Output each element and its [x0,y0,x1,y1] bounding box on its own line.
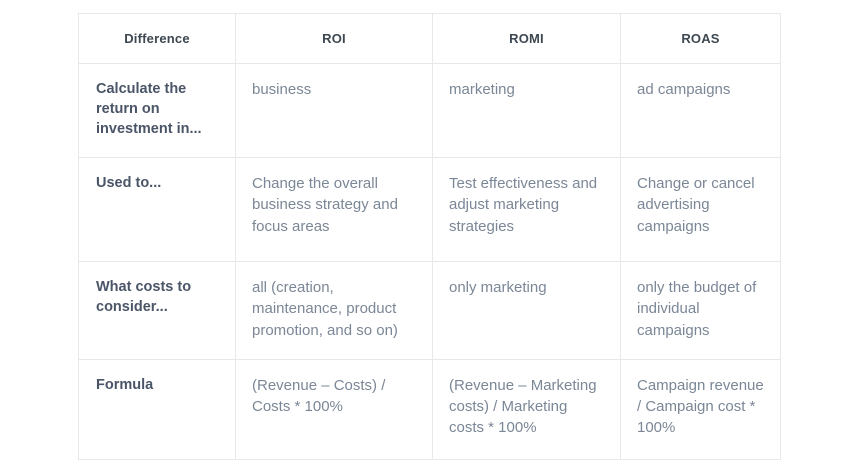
cell-text-roi: all (creation, maintenance, product prom… [252,277,416,341]
table-header-row: Difference ROI ROMI ROAS [79,14,781,64]
cell-roas: ad campaigns [621,64,781,158]
row-label-text: Formula [96,375,223,395]
cell-roi: all (creation, maintenance, product prom… [236,262,433,360]
cell-roas: Change or cancel advertising campaigns [621,158,781,262]
row-label-text: What costs to consider... [96,277,223,317]
cell-romi: (Revenue – Marketing costs) / Marketing … [433,359,621,459]
column-header-roi: ROI [236,14,433,64]
row-label-cell: Calculate the return on investment in... [79,64,236,158]
column-header-roas: ROAS [621,14,781,64]
cell-romi: only marketing [433,262,621,360]
cell-text-roi: Change the overall business strategy and… [252,173,416,237]
column-header-romi: ROMI [433,14,621,64]
table-row: Used to... Change the overall business s… [79,158,781,262]
table-row: Calculate the return on investment in...… [79,64,781,158]
row-label-cell: Used to... [79,158,236,262]
row-label-cell: Formula [79,359,236,459]
table-row: What costs to consider... all (creation,… [79,262,781,360]
cell-text-romi: (Revenue – Marketing costs) / Marketing … [449,375,604,439]
cell-roi: (Revenue – Costs) / Costs * 100% [236,359,433,459]
cell-text-roi: (Revenue – Costs) / Costs * 100% [252,375,416,418]
cell-romi: marketing [433,64,621,158]
cell-text-roas: only the budget of individual campaigns [637,277,764,341]
cell-text-roas: Campaign revenue / Campaign cost * 100% [637,375,764,439]
column-header-difference: Difference [79,14,236,64]
table-body: Calculate the return on investment in...… [79,64,781,460]
cell-text-roi: business [252,79,416,100]
cell-text-romi: Test effectiveness and adjust marketing … [449,173,604,237]
cell-roas: only the budget of individual campaigns [621,262,781,360]
cell-roi: business [236,64,433,158]
table-row: Formula (Revenue – Costs) / Costs * 100%… [79,359,781,459]
row-label-cell: What costs to consider... [79,262,236,360]
cell-text-romi: marketing [449,79,604,100]
cell-romi: Test effectiveness and adjust marketing … [433,158,621,262]
cell-roas: Campaign revenue / Campaign cost * 100% [621,359,781,459]
page-root: Difference ROI ROMI ROAS Calculate the r… [0,0,863,439]
table-header: Difference ROI ROMI ROAS [79,14,781,64]
metrics-comparison-table: Difference ROI ROMI ROAS Calculate the r… [78,13,781,460]
cell-text-roas: Change or cancel advertising campaigns [637,173,764,237]
row-label-text: Used to... [96,173,223,193]
cell-roi: Change the overall business strategy and… [236,158,433,262]
row-label-text: Calculate the return on investment in... [96,79,223,139]
cell-text-romi: only marketing [449,277,604,298]
cell-text-roas: ad campaigns [637,79,764,100]
